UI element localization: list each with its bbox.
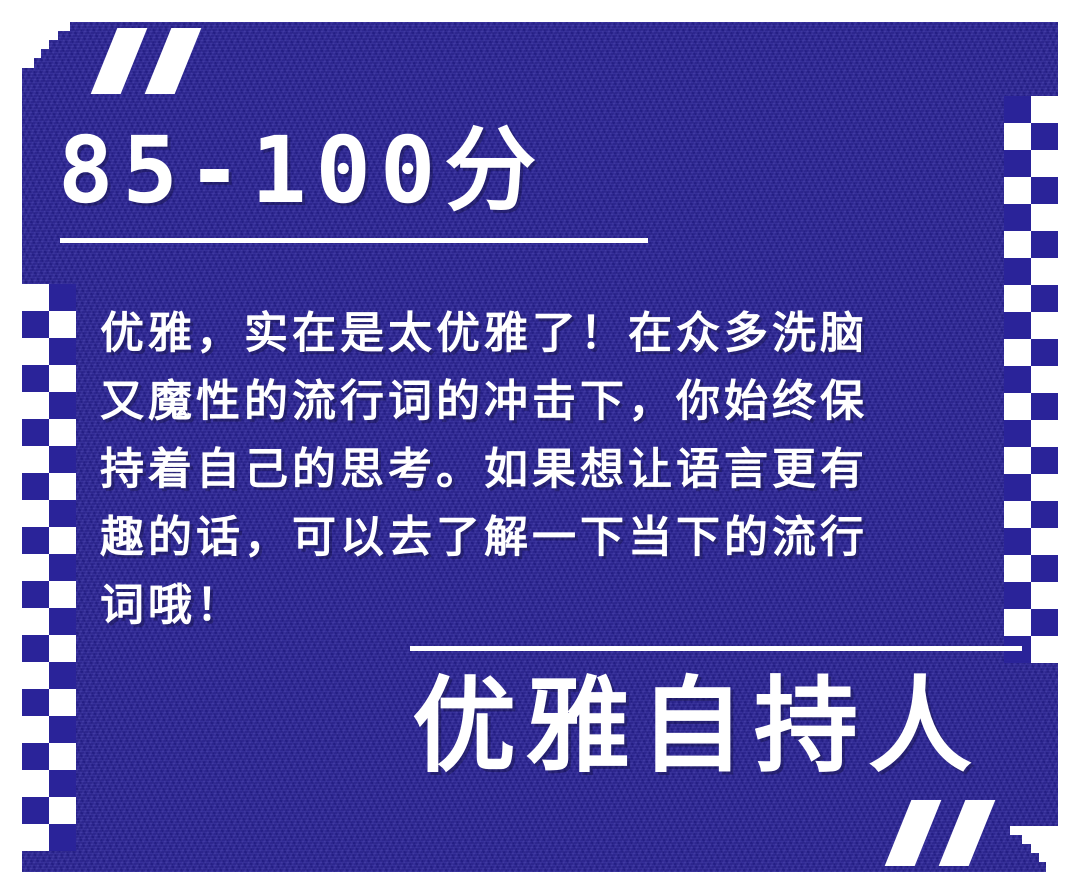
checker-square	[49, 662, 76, 689]
checker-square	[49, 608, 76, 635]
description-line: 持着自己的思考。如果想让语言更有	[100, 436, 1030, 504]
checker-square	[1031, 474, 1058, 501]
checker-square	[49, 797, 76, 824]
checker-square	[1031, 420, 1058, 447]
checker-strip-left	[22, 284, 76, 856]
checker-square	[22, 284, 49, 311]
corner-notch-bottom-right	[1010, 826, 1058, 835]
description-paragraph: 优雅，实在是太优雅了！在众多洗脑又魔性的流行词的冲击下，你始终保持着自己的思考。…	[100, 300, 1030, 640]
personality-type-title: 优雅自持人	[412, 664, 982, 788]
checker-square	[49, 554, 76, 581]
checker-square	[1031, 393, 1058, 420]
checker-square	[49, 716, 76, 743]
checker-square	[1004, 177, 1031, 204]
checker-square	[1031, 636, 1058, 663]
checker-square	[1031, 285, 1058, 312]
result-card-image: 85-100分 优雅，实在是太优雅了！在众多洗脑又魔性的流行词的冲击下，你始终保…	[0, 0, 1080, 894]
checker-square	[22, 716, 49, 743]
checker-square	[49, 500, 76, 527]
corner-notch-top-left	[22, 58, 34, 68]
checker-square	[49, 635, 76, 662]
checker-square	[1004, 204, 1031, 231]
checker-square	[22, 311, 49, 338]
corner-notch-top-left	[22, 40, 49, 49]
checker-square	[1031, 312, 1058, 339]
score-range-heading: 85-100分	[58, 118, 545, 224]
checker-square	[1031, 96, 1058, 123]
checker-square	[22, 554, 49, 581]
checker-square	[22, 581, 49, 608]
description-line: 词哦！	[100, 572, 1030, 640]
checker-square	[49, 743, 76, 770]
checker-square	[1004, 150, 1031, 177]
checker-square	[49, 365, 76, 392]
checker-square	[49, 770, 76, 797]
checker-square	[22, 338, 49, 365]
checker-square	[22, 662, 49, 689]
checker-square	[1031, 204, 1058, 231]
checker-square	[1031, 528, 1058, 555]
checker-square	[22, 500, 49, 527]
corner-notch-top-left	[22, 49, 41, 58]
checker-square	[49, 527, 76, 554]
checker-square	[1031, 609, 1058, 636]
corner-notch-top-left	[22, 31, 58, 40]
checker-square	[22, 527, 49, 554]
description-line: 优雅，实在是太优雅了！在众多洗脑	[100, 300, 1030, 368]
checker-square	[22, 446, 49, 473]
checker-square	[49, 392, 76, 419]
checker-square	[1031, 231, 1058, 258]
checker-square	[22, 743, 49, 770]
description-line: 又魔性的流行词的冲击下，你始终保	[100, 368, 1030, 436]
checker-square	[22, 392, 49, 419]
divider-under-heading	[60, 238, 648, 243]
corner-notch-top-left	[22, 22, 70, 31]
checker-square	[1004, 123, 1031, 150]
checker-square	[49, 581, 76, 608]
checker-square	[49, 338, 76, 365]
divider-above-footer	[410, 646, 1022, 651]
checker-square	[22, 608, 49, 635]
checker-square	[49, 689, 76, 716]
checker-square	[1031, 366, 1058, 393]
checker-square	[22, 365, 49, 392]
checker-square	[22, 689, 49, 716]
checker-square	[1004, 258, 1031, 285]
checker-square	[22, 419, 49, 446]
checker-square	[1031, 339, 1058, 366]
checker-square	[1031, 555, 1058, 582]
corner-notch-bottom-right	[1046, 862, 1058, 872]
checker-square	[49, 419, 76, 446]
corner-notch-bottom-right	[1022, 835, 1058, 844]
checker-square	[1004, 96, 1031, 123]
checker-square	[22, 473, 49, 500]
checker-square	[49, 446, 76, 473]
checker-square	[1031, 447, 1058, 474]
checker-square	[22, 770, 49, 797]
checker-square	[49, 284, 76, 311]
description-line: 趣的话，可以去了解一下当下的流行	[100, 504, 1030, 572]
checker-square	[22, 824, 49, 851]
checker-square	[22, 635, 49, 662]
checker-square	[1004, 231, 1031, 258]
checker-square	[1031, 582, 1058, 609]
checker-square	[1031, 501, 1058, 528]
checker-square	[49, 311, 76, 338]
checker-square	[1031, 258, 1058, 285]
checker-square	[1031, 177, 1058, 204]
checker-square	[49, 824, 76, 851]
checker-square	[1031, 123, 1058, 150]
corner-notch-bottom-right	[1039, 853, 1058, 862]
checker-square	[1031, 150, 1058, 177]
checker-square	[22, 797, 49, 824]
checker-square	[49, 473, 76, 500]
corner-notch-bottom-right	[1031, 844, 1058, 853]
